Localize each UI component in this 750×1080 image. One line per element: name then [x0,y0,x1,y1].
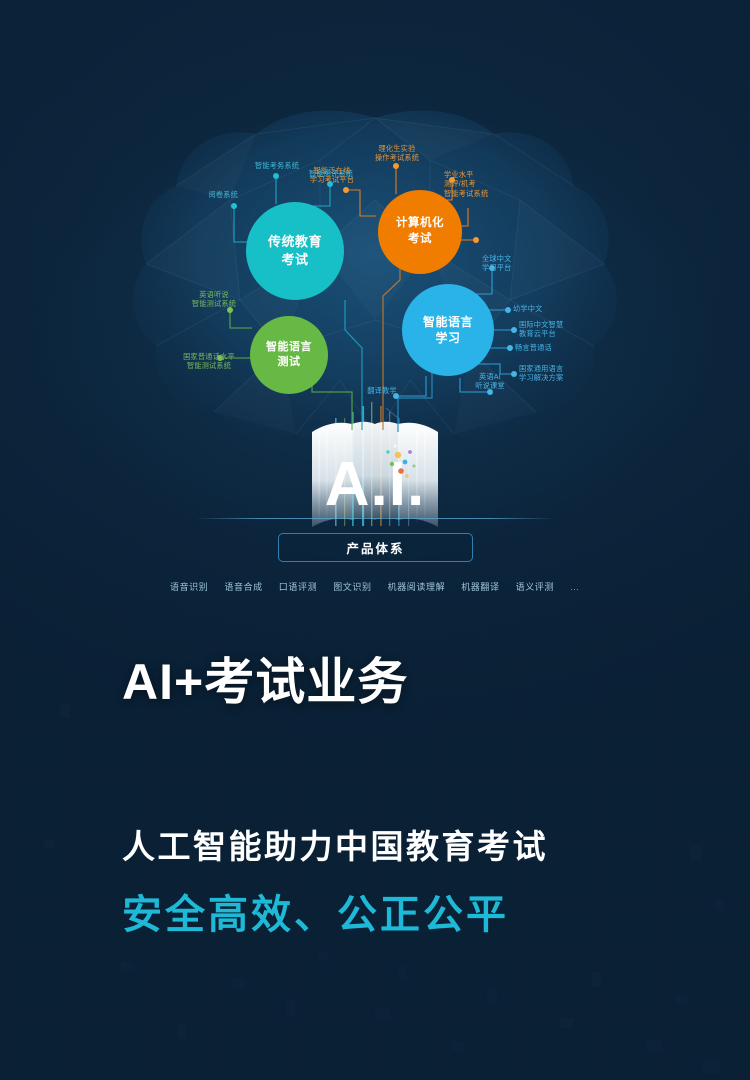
capability-tag[interactable]: 口语评测 [279,580,317,593]
capability-tag[interactable]: 机器翻译 [461,580,499,593]
leaf-label-traditional-0: 阅卷系统 [190,190,238,199]
tree-diagram: A.I. [0,0,750,630]
node-intelligent-language-learning[interactable]: 智能语言 学习 [402,284,494,376]
page-title: AI+考试业务 [0,655,750,710]
leaf-label-computerized-0: 智能泛在线 学习考试平台 [300,166,364,185]
leaf-label-langlearn-5: 英语AI 听说课堂 [462,372,518,391]
capability-tag[interactable]: 图文识别 [333,580,371,593]
ai-wordmark: A.I. [325,450,425,519]
product-system-label: 产品体系 [346,538,404,557]
capability-tag-ellipsis: … [570,582,580,592]
poster-canvas: A.I. [0,0,750,1080]
subtitle: 人工智能助力中国教育考试 [0,710,750,866]
node-label: 智能语言 学习 [423,314,473,346]
capability-tag[interactable]: 语义评测 [516,580,554,593]
node-label: 智能语言 测试 [266,340,312,370]
leaf-label-langlearn-4: 国家通用语言 学习解决方案 [519,364,595,383]
section-divider [195,518,555,519]
leaf-label-langlearn-2: 国际中文智慧 教育云平台 [519,320,591,339]
capability-tag[interactable]: 语音合成 [224,580,262,593]
tagline: 安全高效、公正公平 [0,866,750,938]
leaf-label-langtest-1: 国家普通话水平 智能测试系统 [172,352,246,371]
node-label: 传统教育 考试 [268,233,322,268]
capability-tag[interactable]: 语音识别 [170,580,208,593]
leaf-label-langlearn-3: 畅言普通话 [515,343,579,352]
leaf-label-langlearn-1: 幼学中文 [513,304,577,313]
product-system-button[interactable]: 产品体系 [278,533,473,562]
node-traditional-education-exam[interactable]: 传统教育 考试 [246,202,344,300]
leaf-label-langlearn-0: 全球中文 学习平台 [482,254,546,273]
svg-text:A.I.: A.I. [325,450,425,519]
node-computerized-exam[interactable]: 计算机化 考试 [378,190,462,274]
capability-tag[interactable]: 机器阅读理解 [388,580,446,593]
node-label: 计算机化 考试 [396,216,444,247]
leaf-label-langlearn-6: 翻译教学 [358,386,406,395]
leaf-label-computerized-2: 学业水平 测评/机考 智能考试系统 [444,170,518,198]
leaf-label-langtest-0: 英语听说 智能测试系统 [182,290,246,309]
copy-block: AI+考试业务 人工智能助力中国教育考试 安全高效、公正公平 [0,655,750,938]
capability-tag-row: 语音识别 语音合成 口语评测 图文识别 机器阅读理解 机器翻译 语义评测 … [0,580,750,593]
node-intelligent-language-testing[interactable]: 智能语言 测试 [250,316,328,394]
leaf-label-computerized-1: 理化生实验 操作考试系统 [366,144,428,163]
